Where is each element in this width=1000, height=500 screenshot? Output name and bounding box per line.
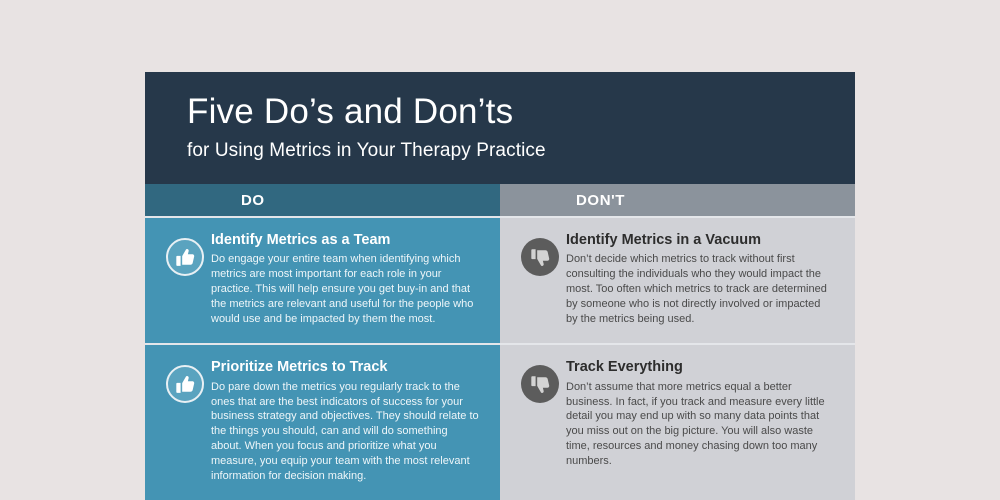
- do-cell: Prioritize Metrics to Track Do pare down…: [145, 345, 500, 500]
- column-header-do-label: DO: [241, 192, 265, 209]
- item-title: Prioritize Metrics to Track: [211, 359, 480, 376]
- item-body: Don’t assume that more metrics equal a b…: [566, 380, 835, 470]
- text-container: Track Everything Don’t assume that more …: [566, 359, 835, 484]
- icon-container: [159, 232, 211, 327]
- dont-cell: Track Everything Don’t assume that more …: [500, 345, 855, 500]
- text-container: Prioritize Metrics to Track Do pare down…: [211, 359, 480, 484]
- item-body: Don’t decide which metrics to track with…: [566, 252, 835, 327]
- page-subtitle: for Using Metrics in Your Therapy Practi…: [187, 140, 855, 162]
- do-cell: Identify Metrics as a Team Do engage you…: [145, 218, 500, 343]
- thumbs-down-icon: [521, 238, 559, 276]
- thumbs-up-icon: [166, 365, 204, 403]
- content-row: Identify Metrics as a Team Do engage you…: [145, 216, 855, 343]
- item-title: Identify Metrics as a Team: [211, 232, 480, 249]
- thumbs-up-icon: [166, 238, 204, 276]
- column-header-dont-label: DON'T: [576, 192, 625, 209]
- column-header-bar: DO DON'T: [145, 184, 855, 216]
- text-container: Identify Metrics as a Team Do engage you…: [211, 232, 480, 327]
- item-title: Track Everything: [566, 359, 835, 376]
- icon-container: [514, 359, 566, 484]
- column-header-dont: DON'T: [500, 184, 855, 216]
- content-row: Prioritize Metrics to Track Do pare down…: [145, 343, 855, 500]
- dont-cell: Identify Metrics in a Vacuum Don’t decid…: [500, 218, 855, 343]
- item-body: Do pare down the metrics you regularly t…: [211, 380, 480, 485]
- title-banner: Five Do’s and Don’ts for Using Metrics i…: [145, 72, 855, 184]
- column-header-do: DO: [145, 184, 500, 216]
- item-body: Do engage your entire team when identify…: [211, 252, 480, 327]
- page-title: Five Do’s and Don’ts: [187, 92, 855, 131]
- text-container: Identify Metrics in a Vacuum Don’t decid…: [566, 232, 835, 327]
- item-title: Identify Metrics in a Vacuum: [566, 232, 835, 249]
- infographic-panel: Five Do’s and Don’ts for Using Metrics i…: [145, 72, 855, 500]
- icon-container: [514, 232, 566, 327]
- thumbs-down-icon: [521, 365, 559, 403]
- icon-container: [159, 359, 211, 484]
